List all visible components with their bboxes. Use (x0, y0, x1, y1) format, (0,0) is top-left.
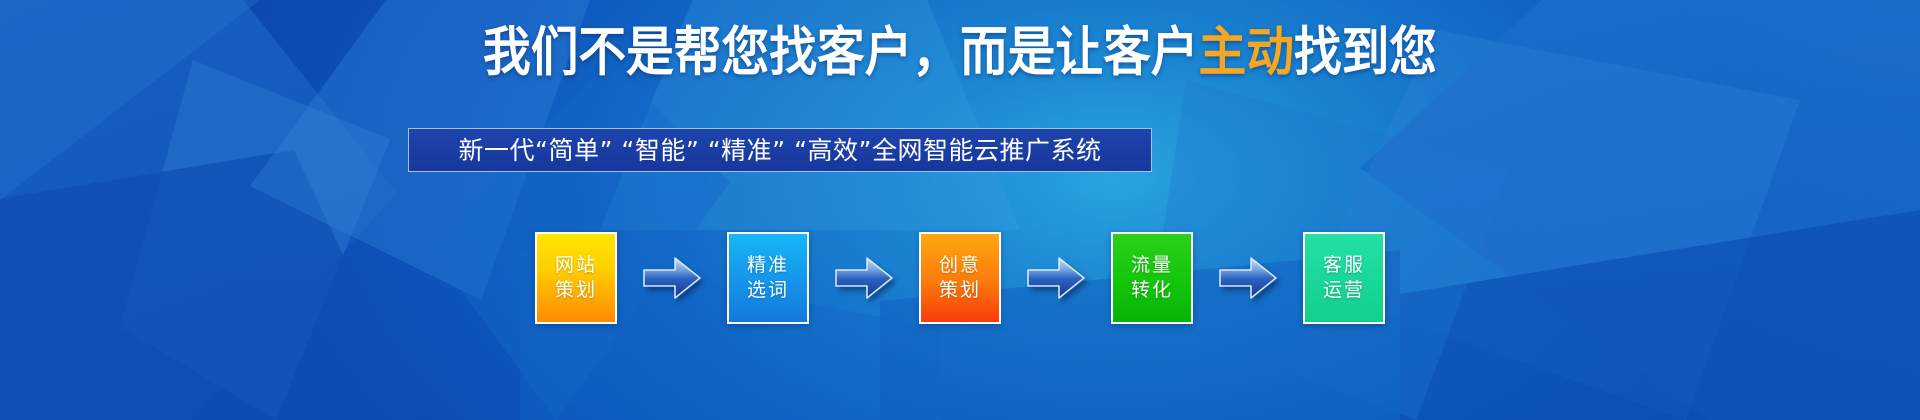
process-flow: 网站 策划 精准 选词 (0, 228, 1920, 328)
flow-step-customer-service-operation[interactable]: 客服 运营 (1303, 232, 1385, 324)
flow-step-creative-planning[interactable]: 创意 策划 (919, 232, 1001, 324)
flow-step-line2: 运营 (1323, 278, 1365, 303)
flow-step-website-planning[interactable]: 网站 策划 (535, 232, 617, 324)
headline-suffix: 找到您 (1294, 22, 1437, 83)
right-arrow-icon (1023, 232, 1089, 324)
flow-step-line2: 转化 (1131, 278, 1173, 303)
flow-step-traffic-conversion[interactable]: 流量 转化 (1111, 232, 1193, 324)
subtitle-text: 新一代“简单” “智能” “精准” “高效”全网智能云推广系统 (459, 138, 1102, 163)
background-shard (1280, 30, 1800, 420)
flow-step-line2: 策划 (555, 278, 597, 303)
right-arrow-icon (1215, 232, 1281, 324)
flow-step-line1: 网站 (555, 253, 597, 278)
flow-step-line2: 选词 (747, 278, 789, 303)
flow-step-line2: 策划 (939, 278, 981, 303)
flow-step-precise-keyword-selection[interactable]: 精准 选词 (727, 232, 809, 324)
flow-step-line1: 流量 (1131, 253, 1173, 278)
headline-highlight: 主动 (1199, 22, 1294, 83)
promo-banner: 我们不是帮您找客户，而是让客户主动找到您 新一代“简单” “智能” “精准” “… (0, 0, 1920, 420)
flow-step-line1: 创意 (939, 253, 981, 278)
subtitle-bar: 新一代“简单” “智能” “精准” “高效”全网智能云推广系统 (408, 128, 1152, 172)
right-arrow-icon (639, 232, 705, 324)
headline: 我们不是帮您找客户，而是让客户主动找到您 (96, 22, 1824, 84)
flow-step-line1: 客服 (1323, 253, 1365, 278)
headline-prefix: 我们不是帮您找客户，而是让客户 (483, 22, 1199, 83)
flow-step-line1: 精准 (747, 253, 789, 278)
right-arrow-icon (831, 232, 897, 324)
